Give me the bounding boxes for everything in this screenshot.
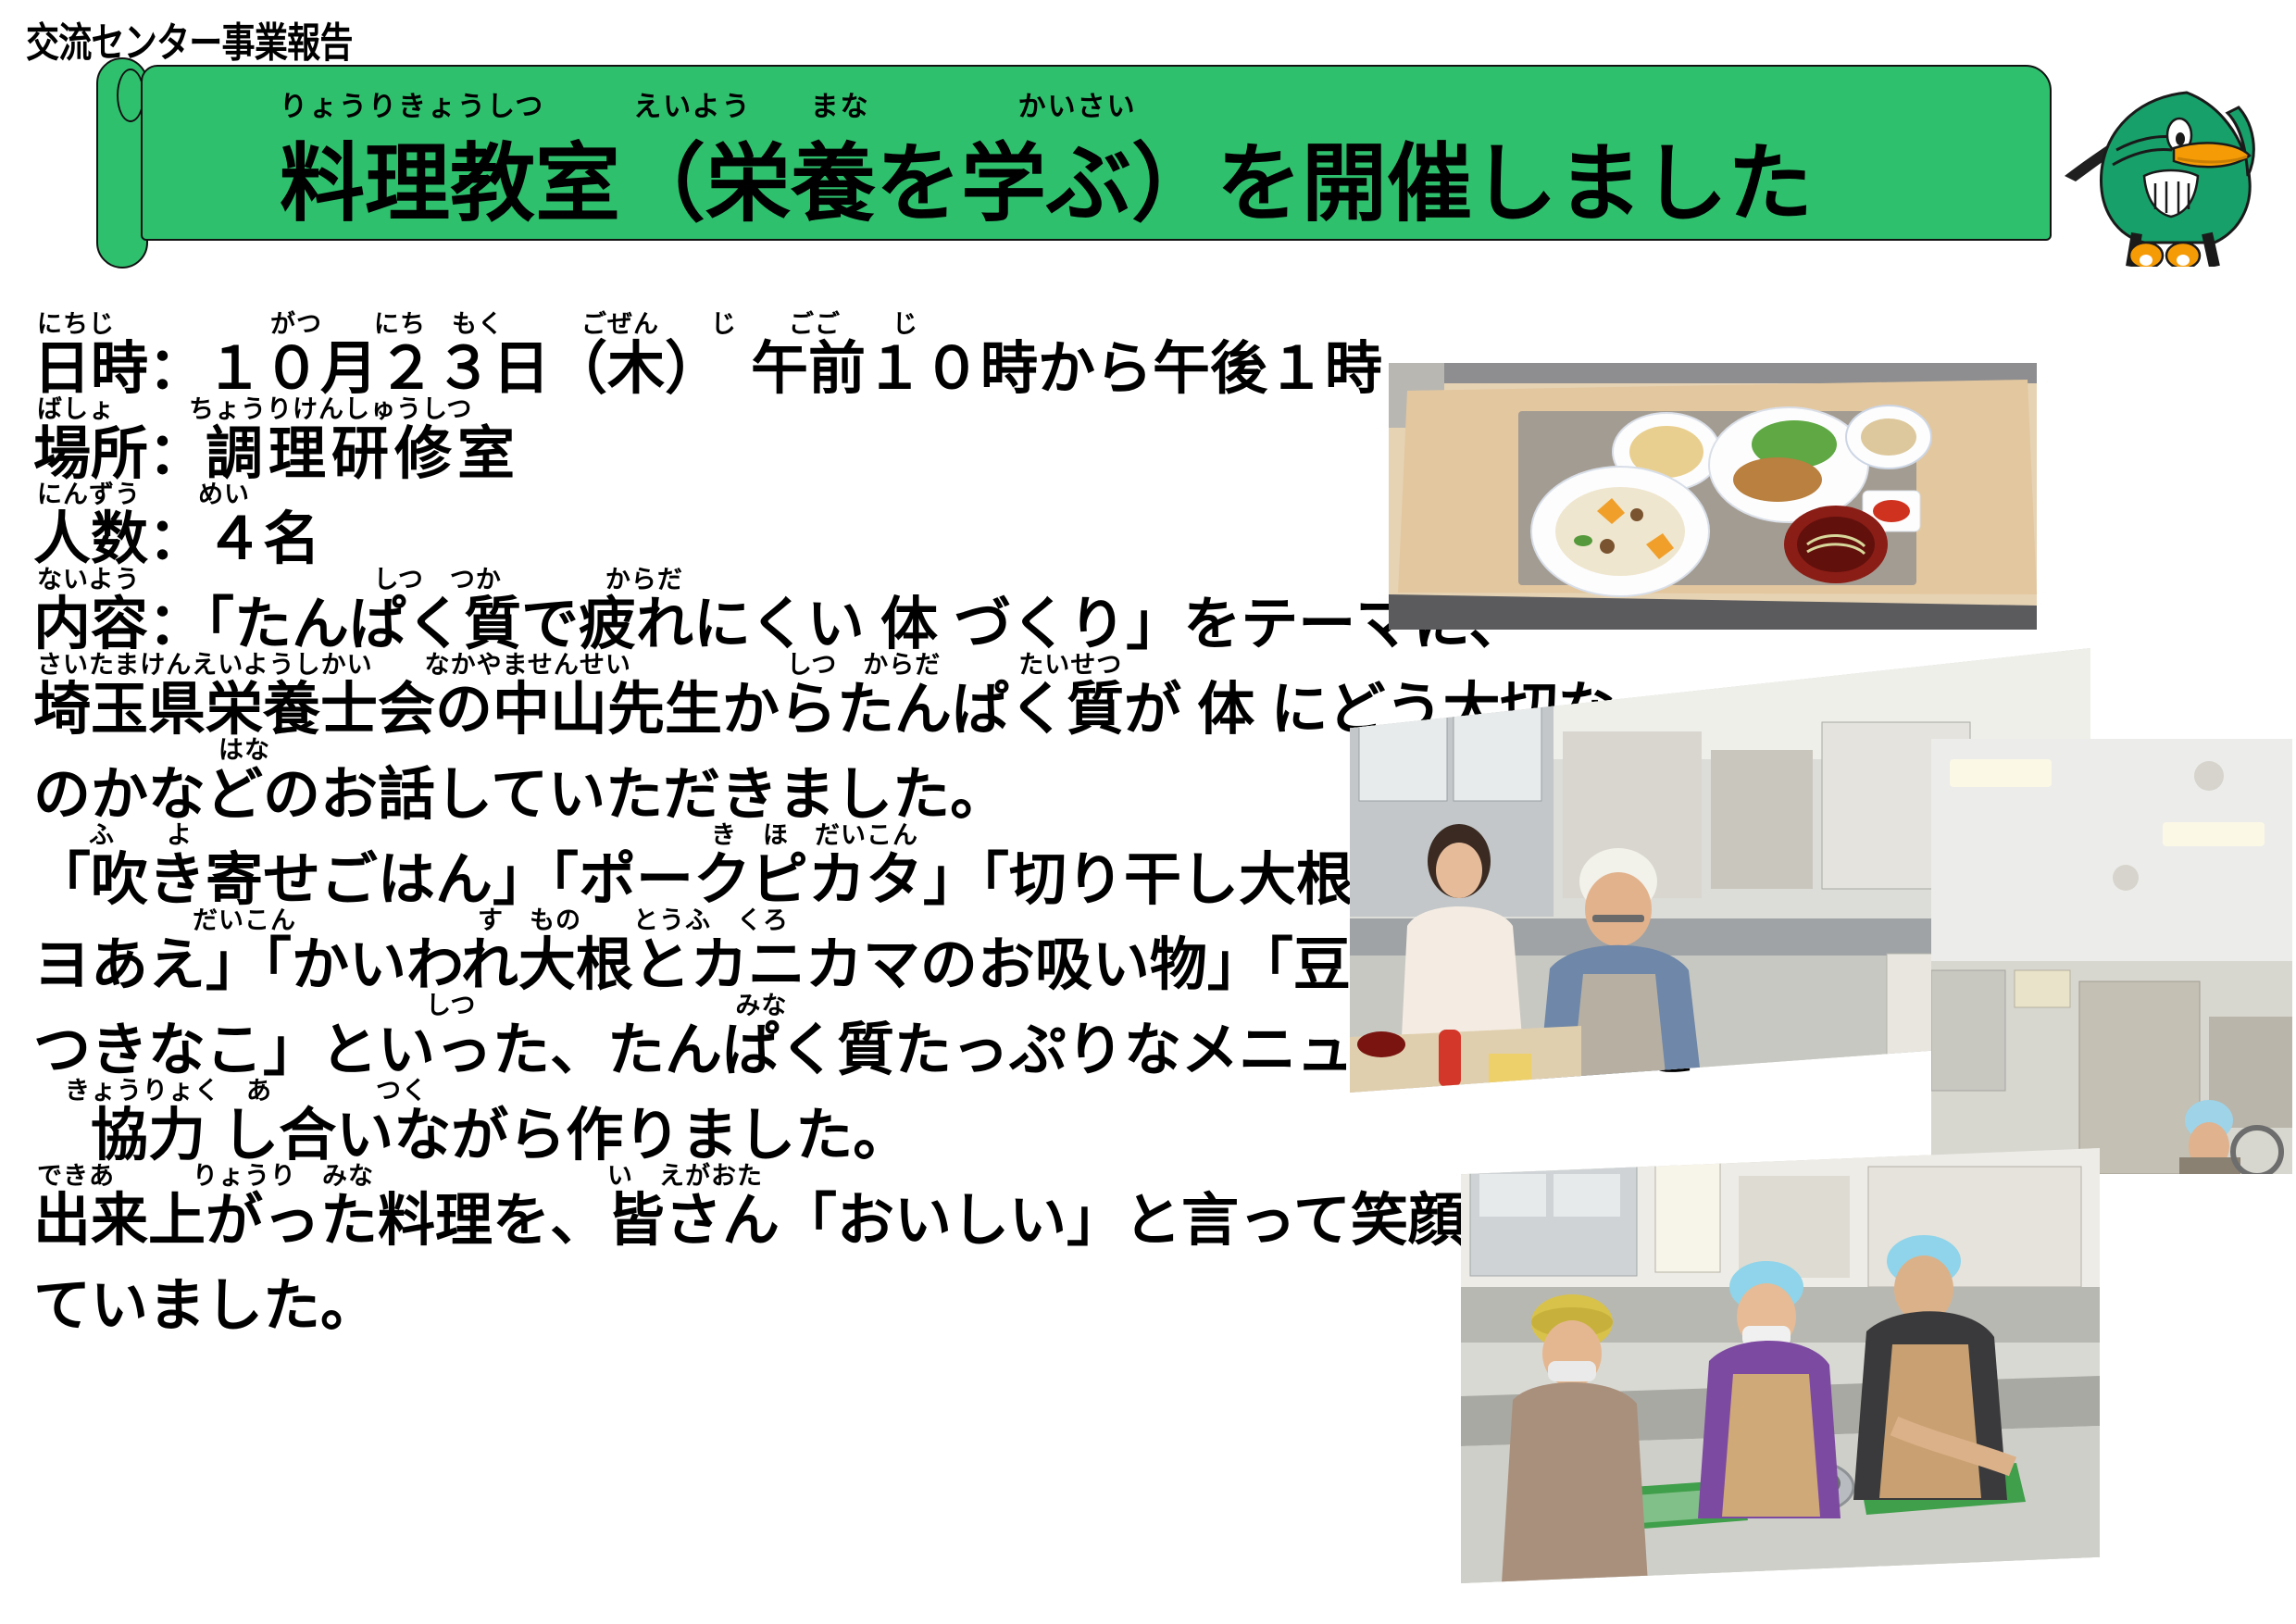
title-banner: りょうりきょうしつ えいよう まな かいさい 料理教室（栄養を学ぶ）を開催しまし… bbox=[89, 57, 2052, 270]
green-kingfisher-mascot-icon bbox=[2048, 35, 2279, 267]
paragraph-text: 出来上がった料理を、皆さん「おいしい」と言って笑顔で食べられ bbox=[33, 1193, 1385, 1250]
photo-cooking-together bbox=[1461, 1148, 2100, 1583]
paragraph-text: ていました。 bbox=[33, 1278, 1385, 1335]
people-value-ruby: めい bbox=[198, 474, 250, 510]
banner-title-main: 料理教室（栄養を学ぶ）を開催しました bbox=[280, 115, 1813, 238]
paragraph-ruby: ないよう しつ つか からだ bbox=[37, 559, 683, 595]
content-paragraph: できあ りょうり みな い えがおた 出来上がった料理を、皆さん「おいしい」と言… bbox=[33, 1193, 1385, 1254]
paragraph-ruby: しつ みな bbox=[37, 985, 787, 1021]
paragraph-ruby: ふ よ き ほ だいこん bbox=[37, 815, 918, 851]
paragraph-ruby: はな bbox=[37, 730, 270, 766]
photo-lecture-room bbox=[1931, 739, 2292, 1174]
body-text-block: にちじ がつ にち もく ごぜん じ ごご じ 日時：１０月２３日（木） 午前１… bbox=[33, 341, 1385, 1363]
place-value-ruby: ちょうりけんしゅうしつ bbox=[189, 389, 472, 425]
banner-body: りょうりきょうしつ えいよう まな かいさい 料理教室（栄養を学ぶ）を開催しまし… bbox=[141, 65, 2052, 241]
paragraph-ruby: きょうりょく あ つく bbox=[65, 1070, 428, 1106]
paragraph-ruby: さいたまけんえいようしかい なかやませんせい しつ からだ たいせつ bbox=[37, 644, 1122, 681]
photo-prepared-meal bbox=[1389, 363, 2037, 630]
content-paragraph: ていました。 bbox=[33, 1278, 1385, 1339]
datetime-ruby: にちじ がつ にち もく ごぜん じ ごご じ bbox=[37, 304, 918, 340]
place-value: 調理研修室 bbox=[206, 422, 520, 486]
place-label-ruby: ばしょ bbox=[37, 389, 115, 425]
people-label-ruby: にんずう bbox=[37, 474, 141, 510]
paragraph-ruby: だいこん す もの とうふ くろ bbox=[37, 900, 789, 936]
paragraph-ruby: できあ りょうり みな い えがおた bbox=[37, 1156, 763, 1192]
